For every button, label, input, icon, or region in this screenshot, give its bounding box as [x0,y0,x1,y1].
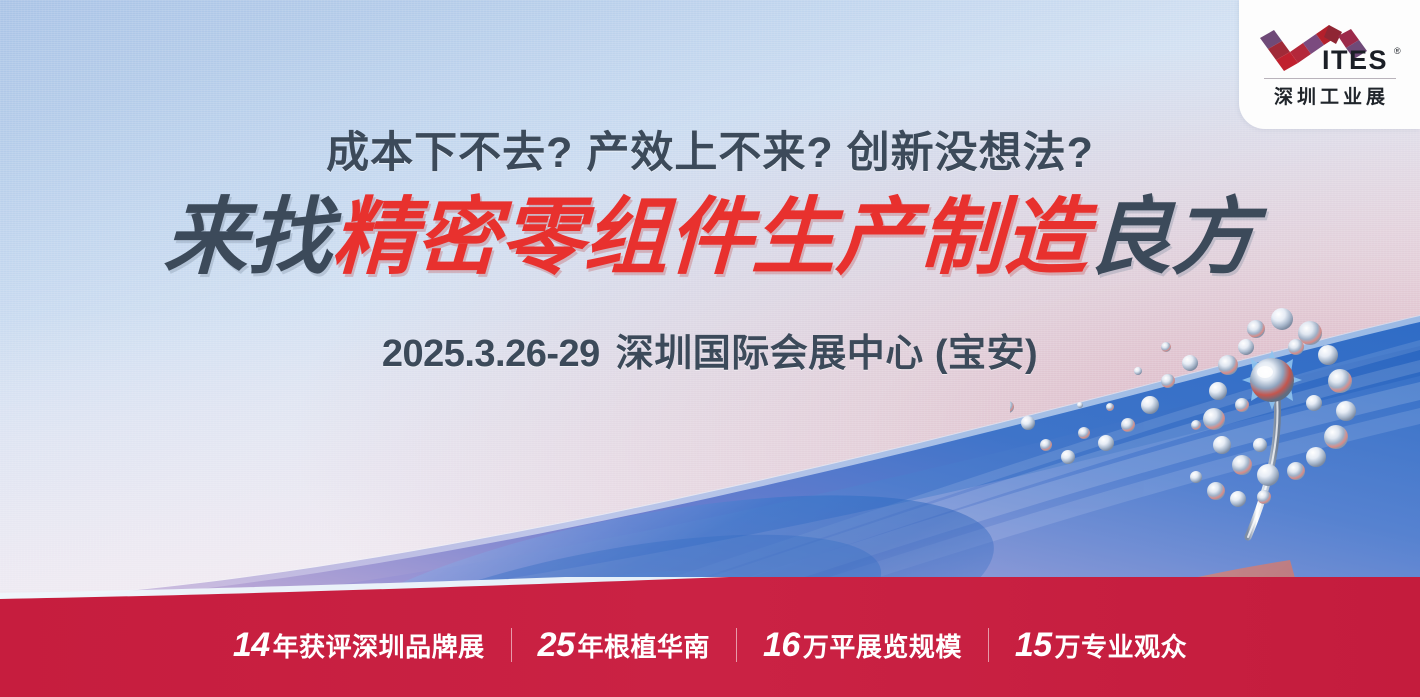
stat-item: 15 万专业观众 [989,628,1213,662]
headline-part-2: 精密零组件生产制造 [331,195,1090,279]
stat-label: 万平展览规模 [803,634,962,660]
ites-logo-card[interactable]: ITES ® 深圳工业展 [1239,0,1420,129]
stat-item: 25 年根植华南 [512,628,736,662]
ites-logo-icon: ITES ® [1254,20,1406,74]
stat-label: 年根植华南 [577,634,710,660]
event-date: 2025.3.26-29 [382,333,600,375]
headline-part-1: 来找 [163,195,334,279]
headline-part-3: 良方 [1087,195,1258,279]
svg-text:®: ® [1394,46,1401,56]
page-tagline: 成本下不去? 产效上不来? 创新没想法? [0,118,1420,180]
stat-item: 16 万平展览规模 [737,628,988,662]
logo-divider [1264,78,1396,79]
event-venue: 深圳国际会展中心 (宝安) [616,333,1038,375]
event-date-venue: 2025.3.26-29深圳国际会展中心 (宝安) [0,322,1420,377]
stat-label: 年获评深圳品牌展 [273,634,485,660]
logo-subtitle: 深圳工业展 [1270,82,1389,109]
page-headline: 来找精密零组件生产制造良方 [0,195,1420,279]
stat-item: 14 年获评深圳品牌展 [207,628,511,662]
stat-number: 16 [763,628,800,662]
stat-label: 万专业观众 [1055,634,1188,660]
event-banner: 成本下不去? 产效上不来? 创新没想法? 来找精密零组件生产制造良方 2025.… [0,0,1420,697]
stat-number: 15 [1015,628,1052,662]
svg-text:ITES: ITES [1322,45,1388,74]
stats-row: 14 年获评深圳品牌展 25 年根植华南 16 万平展览规模 15 万专业观众 [0,593,1420,697]
stat-number: 14 [233,628,270,662]
stat-number: 25 [538,628,575,662]
